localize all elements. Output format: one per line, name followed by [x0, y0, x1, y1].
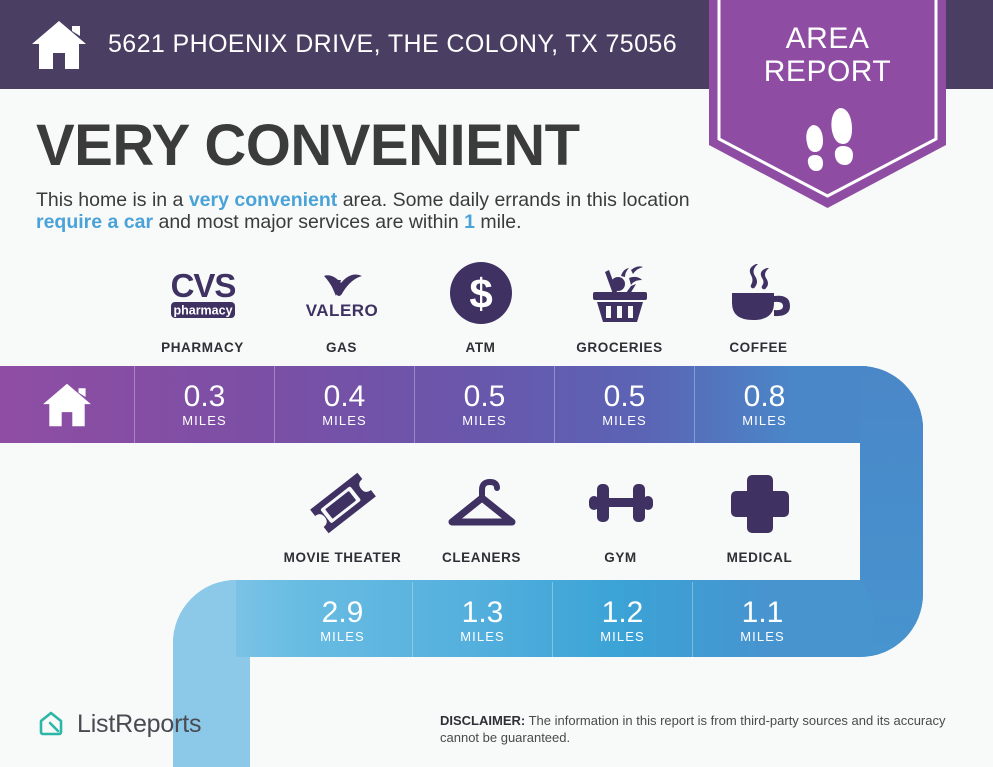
distance-value: 2.9 [322, 598, 364, 628]
distance-value: 1.3 [462, 598, 504, 628]
home-icon [40, 382, 94, 428]
svg-text:$: $ [469, 270, 492, 317]
distance-row-1: 0.3 MILES 0.4 MILES 0.5 MILES 0.5 MILES … [0, 366, 834, 443]
home-icon [30, 19, 88, 71]
svg-text:VALERO: VALERO [305, 301, 378, 320]
distance-segment-groceries: 0.5 MILES [555, 366, 694, 443]
distance-value: 1.2 [602, 598, 644, 628]
property-address: 5621 PHOENIX DRIVE, THE COLONY, TX 75056 [108, 30, 677, 59]
amenity-label: GAS [326, 340, 357, 355]
distance-unit: MILES [742, 413, 787, 428]
distance-value: 0.5 [464, 382, 506, 412]
desc-part-4: mile. [475, 211, 522, 233]
amenity-label: PHARMACY [161, 340, 244, 355]
distance-ribbon: 0.3 MILES 0.4 MILES 0.5 MILES 0.5 MILES … [0, 366, 993, 767]
amenity-coffee: COFFEE [689, 262, 828, 355]
distance-value: 0.3 [184, 382, 226, 412]
amenity-pharmacy: CVS pharmacy PHARMACY [133, 262, 272, 355]
desc-part-1: This home is in a [36, 189, 189, 211]
svg-text:CVS: CVS [170, 267, 235, 304]
distance-segment-cleaners: 1.3 MILES [413, 582, 552, 659]
distance-segment-atm: 0.5 MILES [415, 366, 554, 443]
desc-part-2: area. Some daily errands in this locatio… [337, 189, 689, 211]
headline-description: This home is in a very convenient area. … [36, 189, 701, 233]
distance-value: 0.4 [324, 382, 366, 412]
desc-highlight-1: very convenient [189, 189, 337, 211]
amenity-label: GROCERIES [576, 340, 662, 355]
desc-part-3: and most major services are within [153, 211, 464, 233]
desc-highlight-2: require a car [36, 211, 153, 233]
distance-row-2: 2.9 MILES 1.3 MILES 1.2 MILES 1.1 MILES [273, 582, 832, 659]
coffee-cup-icon [724, 262, 794, 324]
listreports-logo[interactable]: ListReports [36, 709, 201, 739]
distance-segment-pharmacy: 0.3 MILES [135, 366, 274, 443]
distance-segment-coffee: 0.8 MILES [695, 366, 834, 443]
home-segment [0, 366, 134, 443]
grocery-basket-icon [585, 262, 655, 324]
distance-unit: MILES [460, 629, 505, 644]
badge-line-2: REPORT [709, 55, 946, 88]
desc-highlight-3: 1 [464, 211, 475, 233]
distance-unit: MILES [602, 413, 647, 428]
distance-value: 0.8 [744, 382, 786, 412]
amenity-gas: VALERO GAS [272, 262, 411, 355]
distance-unit: MILES [740, 629, 785, 644]
distance-unit: MILES [600, 629, 645, 644]
distance-value: 1.1 [742, 598, 784, 628]
area-report-badge: AREA REPORT [709, 0, 946, 208]
amenity-label: ATM [465, 340, 495, 355]
disclaimer: DISCLAIMER: The information in this repo… [440, 712, 960, 746]
distance-unit: MILES [182, 413, 227, 428]
cvs-pharmacy-logo: CVS pharmacy [157, 262, 249, 324]
amenity-icon-row-1: CVS pharmacy PHARMACY VALERO GAS [133, 262, 853, 355]
dollar-circle-icon: $ [450, 262, 512, 324]
distance-unit: MILES [320, 629, 365, 644]
distance-segment-movie-theater: 2.9 MILES [273, 582, 412, 659]
distance-segment-gas: 0.4 MILES [275, 366, 414, 443]
amenity-label: COFFEE [729, 340, 787, 355]
svg-text:pharmacy: pharmacy [173, 304, 232, 318]
amenity-groceries: GROCERIES [550, 262, 689, 355]
distance-segment-gym: 1.2 MILES [553, 582, 692, 659]
distance-unit: MILES [322, 413, 367, 428]
listreports-house-icon [36, 709, 66, 739]
distance-value: 0.5 [604, 382, 646, 412]
valero-logo: VALERO [296, 262, 388, 324]
area-report-page: 5621 PHOENIX DRIVE, THE COLONY, TX 75056… [0, 0, 993, 767]
disclaimer-label: DISCLAIMER: [440, 713, 525, 728]
amenity-atm: $ ATM [411, 262, 550, 355]
headline-block: VERY CONVENIENT This home is in a very c… [36, 113, 736, 233]
logo-text: ListReports [77, 710, 201, 739]
distance-segment-medical: 1.1 MILES [693, 582, 832, 659]
distance-unit: MILES [462, 413, 507, 428]
badge-text: AREA REPORT [709, 22, 946, 88]
page-title: VERY CONVENIENT [36, 113, 736, 179]
badge-line-1: AREA [709, 22, 946, 55]
